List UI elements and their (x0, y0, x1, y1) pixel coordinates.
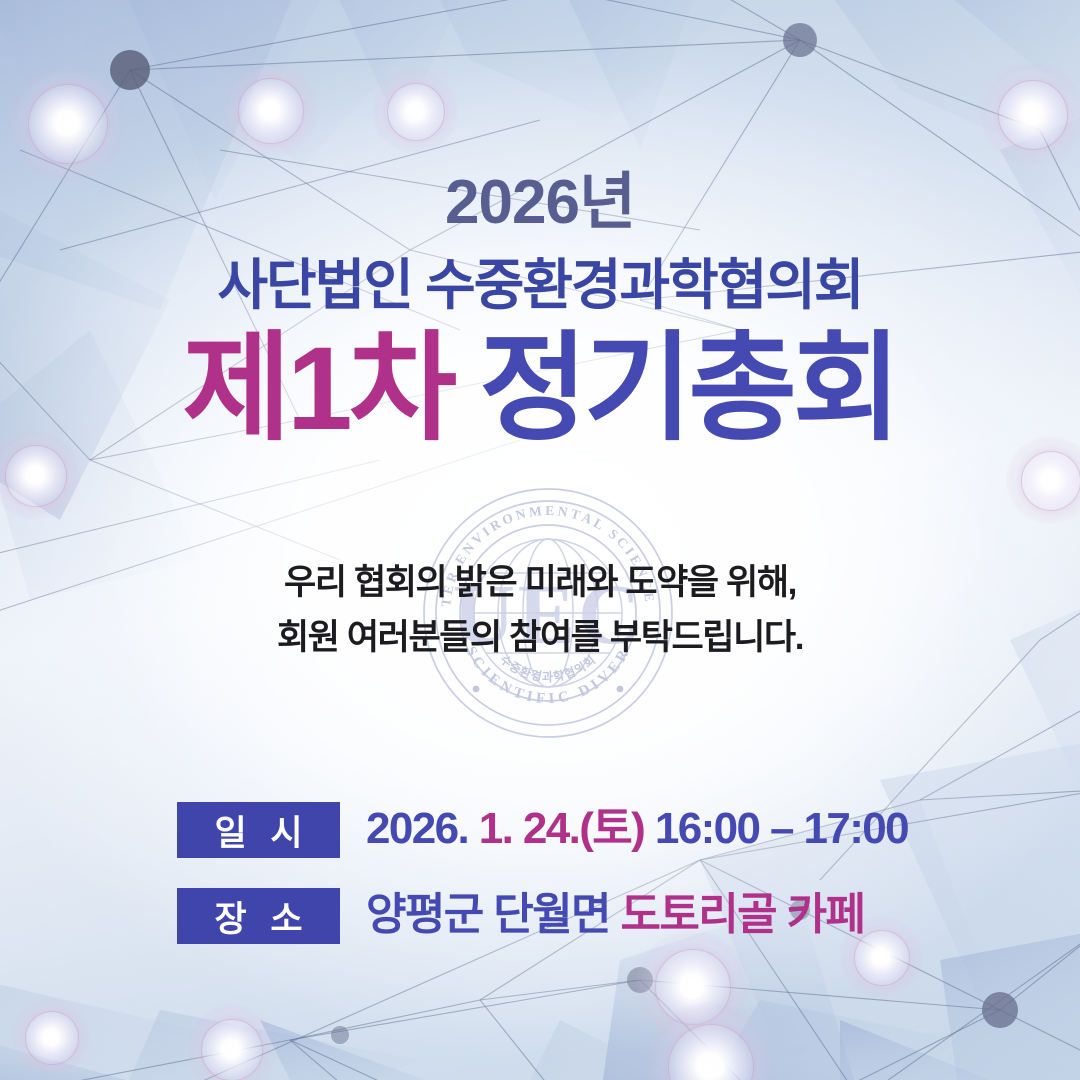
poster-content: 2026년 사단법인 수중환경과학협의회 제1차정기총회 우리 협회의 밝은 미… (0, 0, 1080, 1080)
place-prefix: 양평군 단월면 (366, 890, 610, 939)
date-badge: 일 시 (177, 802, 340, 858)
place-badge: 장 소 (177, 888, 340, 944)
title-highlight: 제1차 (183, 323, 454, 455)
year-line: 2026년 (0, 172, 1080, 234)
detail-row-date: 일 시 2026. 1. 24.(토) 16:00 – 17:00 (177, 802, 977, 858)
date-value: 2026. 1. 24.(토) 16:00 – 17:00 (366, 807, 908, 854)
title-main: 정기총회 (479, 323, 897, 455)
message-line-1: 우리 협회의 밝은 미래와 도약을 위해, (0, 556, 1080, 611)
event-poster: UEC UNDERWATER ENVIRONMENTAL SCIENCE COU… (0, 0, 1080, 1080)
page-title: 제1차정기총회 (0, 328, 1080, 452)
date-prefix: 2026. (366, 804, 468, 853)
invitation-message: 우리 협회의 밝은 미래와 도약을 위해, 회원 여러분들의 참여를 부탁드립니… (0, 556, 1080, 665)
organization-name: 사단법인 수중환경과학협의회 (0, 258, 1080, 313)
event-details: 일 시 2026. 1. 24.(토) 16:00 – 17:00 장 소 양평… (177, 802, 977, 974)
place-highlight: 도토리골 카페 (621, 890, 865, 939)
date-time: 16:00 – 17:00 (655, 804, 908, 853)
detail-row-place: 장 소 양평군 단월면 도토리골 카페 (177, 888, 977, 944)
message-line-2: 회원 여러분들의 참여를 부탁드립니다. (0, 611, 1080, 666)
date-highlight: 1. 24.(토) (479, 804, 644, 853)
place-value: 양평군 단월면 도토리골 카페 (366, 893, 864, 940)
